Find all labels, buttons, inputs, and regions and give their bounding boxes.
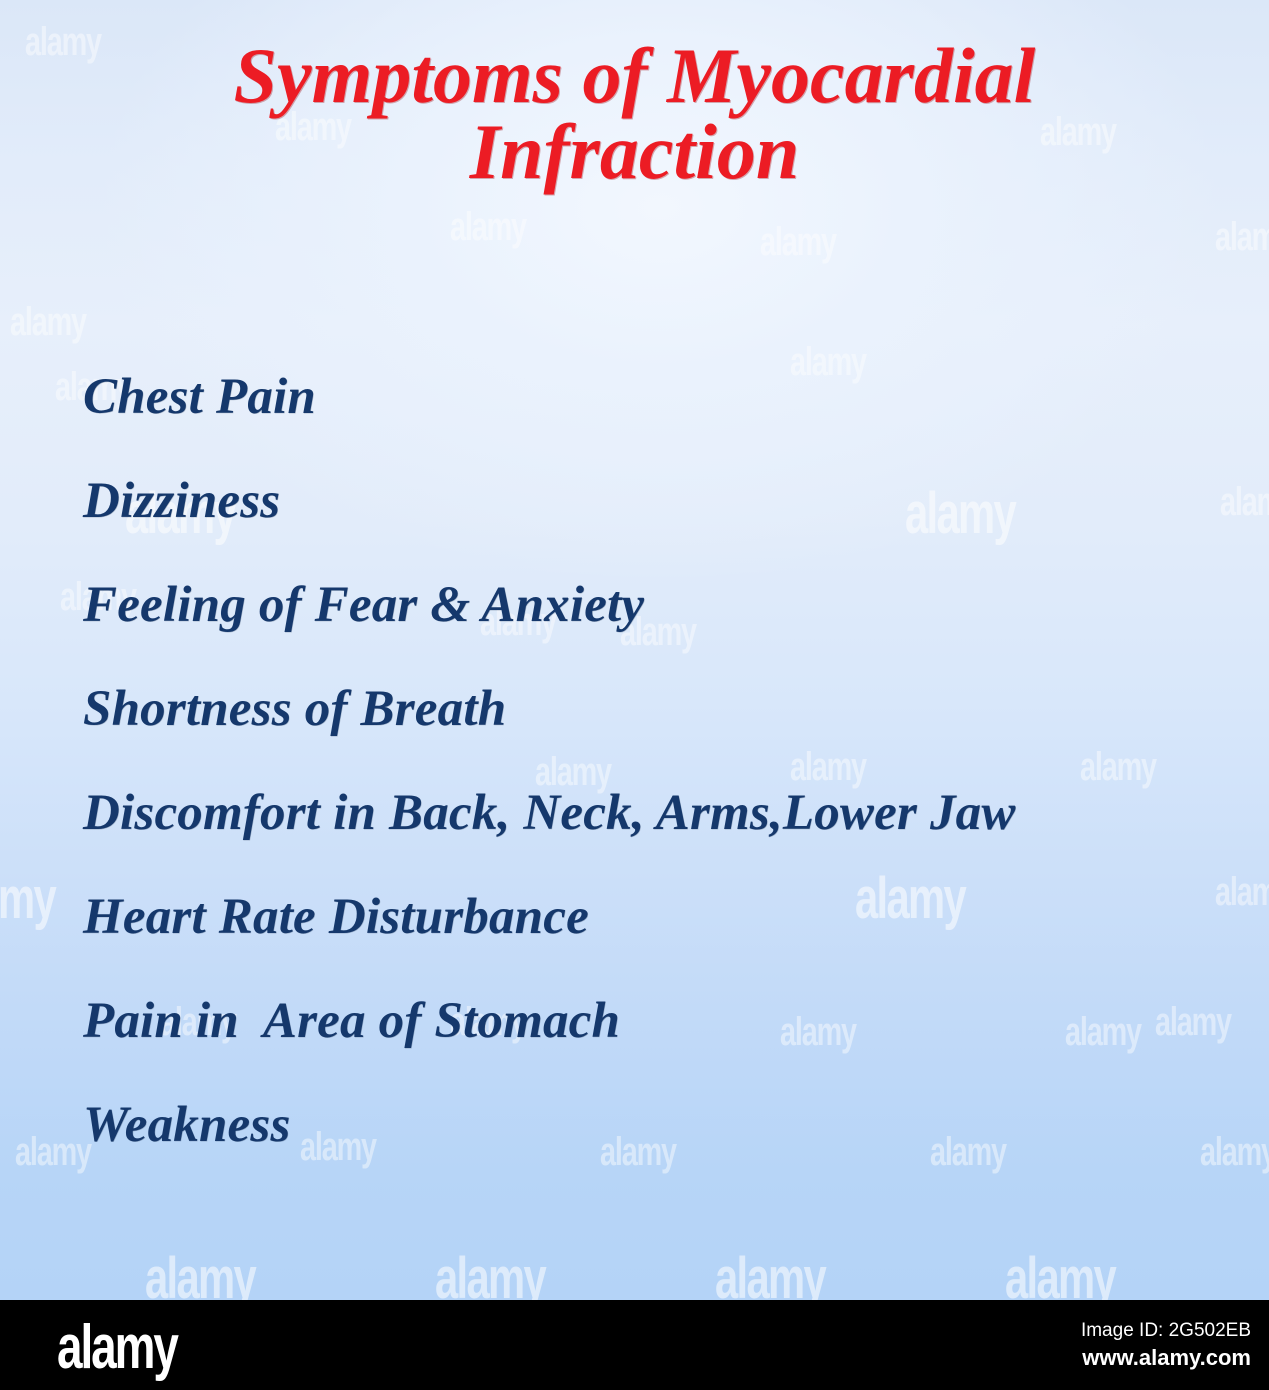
symptom-list: Chest Pain Dizziness Feeling of Fear & A…	[83, 345, 1253, 1177]
poster-screenshot: alamyalamyalamyalamyalamyalamyalamyalamy…	[0, 0, 1269, 1390]
alamy-watermark: alamy	[1215, 215, 1269, 260]
list-item: Shortness of Breath	[83, 657, 1253, 761]
poster-canvas: alamyalamyalamyalamyalamyalamyalamyalamy…	[0, 0, 1269, 1300]
list-item: Dizziness	[83, 449, 1253, 553]
image-id-label: Image ID: 2G502EB	[1081, 1318, 1251, 1344]
footer-meta: Image ID: 2G502EB www.alamy.com	[1081, 1318, 1251, 1372]
alamy-footer-bar: alamy Image ID: 2G502EB www.alamy.com	[0, 1300, 1269, 1390]
alamy-watermark: alamy	[15, 1130, 91, 1175]
alamy-watermark: alamy	[1005, 1245, 1115, 1300]
alamy-watermark: alamy	[435, 1245, 545, 1300]
list-item: Discomfort in Back, Neck, Arms,Lower Jaw	[83, 761, 1253, 865]
alamy-watermark: alamy	[715, 1245, 825, 1300]
alamy-watermark: alamy	[0, 865, 55, 932]
list-item: Pain in Area of Stomach	[83, 969, 1253, 1073]
title-line-1: Symptoms of Myocardial	[0, 38, 1269, 114]
alamy-watermark: alamy	[760, 220, 836, 265]
page-title: Symptoms of Myocardial Infraction	[0, 38, 1269, 191]
list-item: Chest Pain	[83, 345, 1253, 449]
title-line-2: Infraction	[0, 114, 1269, 190]
list-item: Weakness	[83, 1073, 1253, 1177]
alamy-watermark: alamy	[10, 300, 86, 345]
list-item: Feeling of Fear & Anxiety	[83, 553, 1253, 657]
alamy-watermark: alamy	[145, 1245, 255, 1300]
list-item: Heart Rate Disturbance	[83, 865, 1253, 969]
alamy-url-label: www.alamy.com	[1081, 1344, 1251, 1372]
alamy-logo: alamy	[57, 1317, 177, 1379]
alamy-watermark: alamy	[450, 205, 526, 250]
